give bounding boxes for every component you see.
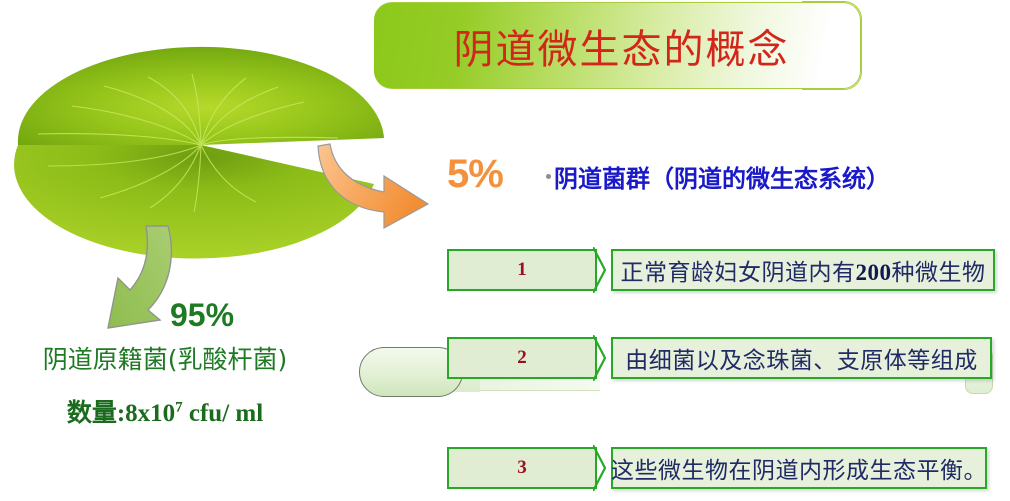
bullet-dot-icon <box>546 174 551 179</box>
quantity-suffix: cfu/ ml <box>183 400 264 427</box>
row-text: 由细菌以及念珠菌、支原体等组成 <box>625 341 978 375</box>
orange-curved-arrow-icon <box>300 132 470 232</box>
row-text: 正常育龄妇女阴道内有200种微生物 <box>621 253 986 287</box>
row-number-chevron: 2 <box>447 337 597 379</box>
quantity-exponent: 7 <box>175 400 183 416</box>
row-text: 这些微生物在阴道内形成生态平衡。 <box>611 451 987 485</box>
resident-flora-label: 阴道原籍菌(乳酸杆菌) <box>0 340 330 376</box>
row-text-box: 正常育龄妇女阴道内有200种微生物 <box>611 249 995 291</box>
row-number-chevron: 3 <box>447 447 597 489</box>
percent-95-label: 95% <box>170 297 234 334</box>
row-number-chevron: 1 <box>447 249 597 291</box>
row-number-label: 2 <box>517 347 527 369</box>
slide-canvas: 阴道微生态的概念 <box>0 0 1010 501</box>
quantity-label: 数量:8x107 cfu/ ml <box>0 393 330 429</box>
list-item[interactable]: 3 这些微生物在阴道内形成生态平衡。 <box>447 447 987 489</box>
row-number-label: 3 <box>517 457 527 479</box>
quantity-prefix: 数量:8x10 <box>67 400 175 427</box>
row-text-box: 这些微生物在阴道内形成生态平衡。 <box>611 447 987 489</box>
row-number-label: 1 <box>517 259 527 281</box>
list-item[interactable]: 2 由细菌以及念珠菌、支原体等组成 <box>447 337 992 379</box>
vaginal-flora-label: 阴道菌群（阴道的微生态系统） <box>554 159 890 194</box>
row-text-box: 由细菌以及念珠菌、支原体等组成 <box>611 337 992 379</box>
percent-5-label: 5% <box>447 152 503 197</box>
page-title: 阴道微生态的概念 <box>374 2 861 89</box>
list-item[interactable]: 1 正常育龄妇女阴道内有200种微生物 <box>447 249 995 291</box>
